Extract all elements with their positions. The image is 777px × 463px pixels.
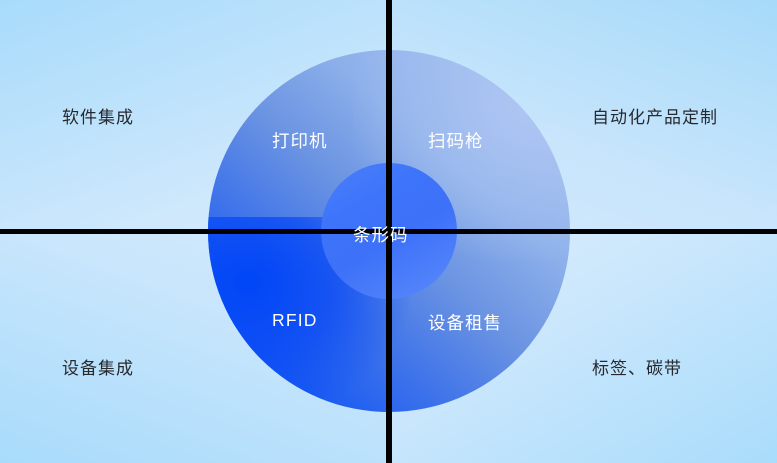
center-label-barcode: 条形码 <box>353 222 409 247</box>
outer-label-automation-customized: 自动化产品定制 <box>592 103 718 128</box>
outer-label-software-integration: 软件集成 <box>62 103 134 128</box>
segment-label-rfid: RFID <box>272 310 318 331</box>
segment-label-scanner: 扫码枪 <box>428 128 484 153</box>
segment-label-printer: 打印机 <box>272 128 328 153</box>
outer-label-labels-ribbons: 标签、碳带 <box>592 354 682 379</box>
segment-label-device-rental: 设备租售 <box>428 310 502 335</box>
quadrant-diagram: 打印机 扫码枪 RFID 设备租售 条形码 软件集成 自动化产品定制 设备集成 … <box>0 0 777 463</box>
outer-label-device-integration: 设备集成 <box>62 354 134 379</box>
